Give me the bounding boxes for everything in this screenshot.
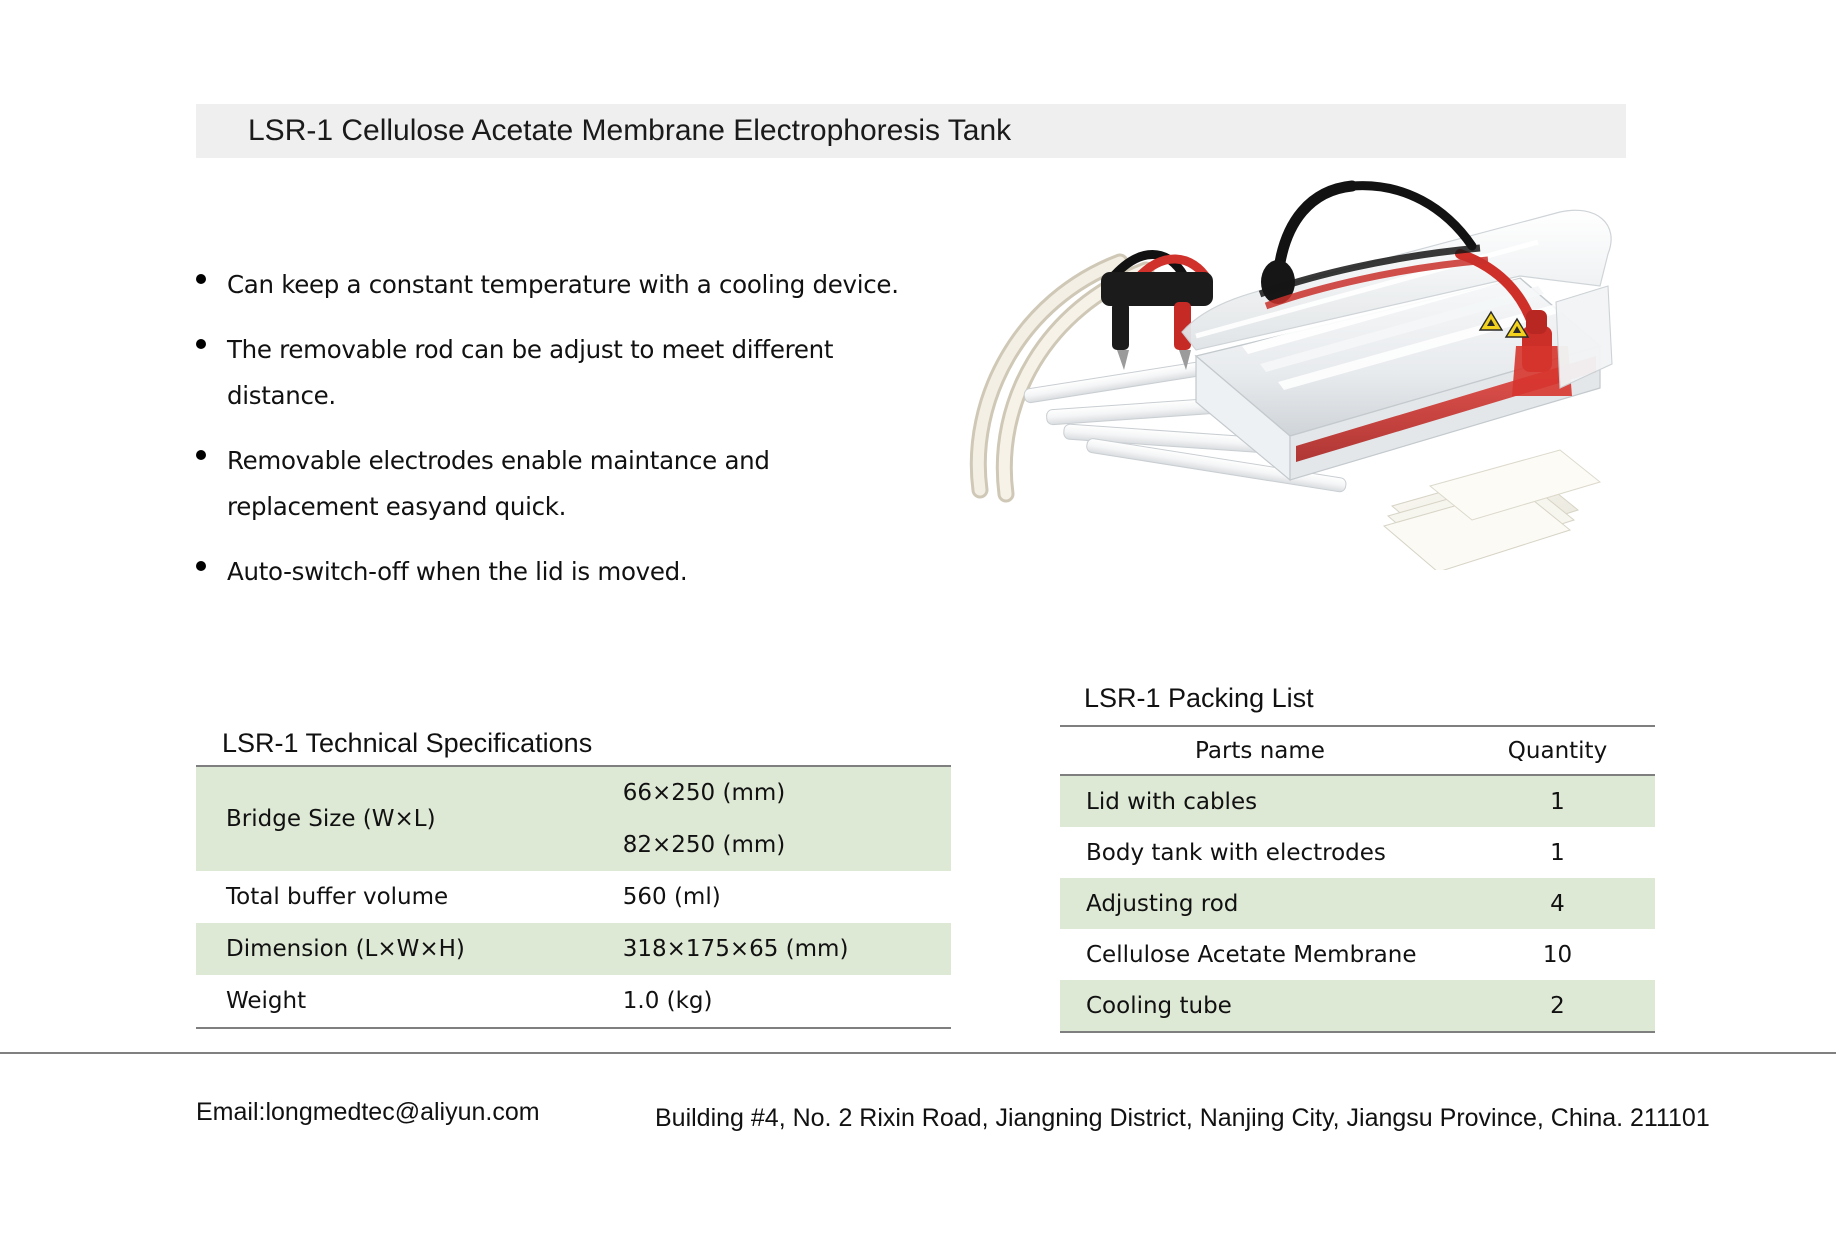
product-photo <box>960 150 1640 570</box>
footer-divider <box>0 1052 1836 1054</box>
feature-text: Removable electrodes enable maintance an… <box>227 438 827 530</box>
feature-text: Can keep a constant temperature with a c… <box>227 262 899 308</box>
feature-list: Can keep a constant temperature with a c… <box>196 262 936 614</box>
part-name: Cellulose Acetate Membrane <box>1060 929 1460 980</box>
part-quantity: 1 <box>1460 775 1655 827</box>
column-header-quantity: Quantity <box>1460 726 1655 775</box>
feature-text: Auto-switch-off when the lid is moved. <box>227 549 687 595</box>
part-quantity: 10 <box>1460 929 1655 980</box>
part-name: Adjusting rod <box>1060 878 1460 929</box>
table-row: Weight 1.0 (kg) <box>196 975 951 1028</box>
table-row: Lid with cables 1 <box>1060 775 1655 827</box>
spec-value: 66×250 (mm) <box>561 766 951 819</box>
part-quantity: 4 <box>1460 878 1655 929</box>
table-row: Bridge Size (W×L) 66×250 (mm) <box>196 766 951 819</box>
page-title: LSR-1 Cellulose Acetate Membrane Electro… <box>248 114 1011 148</box>
bullet-icon <box>196 450 206 460</box>
footer-address: Building #4, No. 2 Rixin Road, Jiangning… <box>655 1104 1710 1133</box>
spec-value: 1.0 (kg) <box>561 975 951 1028</box>
tank-body-graphic <box>1182 186 1612 480</box>
packing-list-heading: LSR-1 Packing List <box>1084 683 1314 714</box>
column-header-parts-name: Parts name <box>1060 726 1460 775</box>
bullet-icon <box>196 339 206 349</box>
part-name: Lid with cables <box>1060 775 1460 827</box>
bullet-icon <box>196 561 206 571</box>
footer-email: Email:longmedtec@aliyun.com <box>196 1098 540 1127</box>
list-item: Removable electrodes enable maintance an… <box>196 438 936 530</box>
table-row: Cellulose Acetate Membrane 10 <box>1060 929 1655 980</box>
spec-key: Total buffer volume <box>196 871 561 923</box>
part-name: Body tank with electrodes <box>1060 827 1460 878</box>
part-quantity: 1 <box>1460 827 1655 878</box>
spec-key: Weight <box>196 975 561 1028</box>
specifications-heading: LSR-1 Technical Specifications <box>222 728 592 759</box>
table-row: Cooling tube 2 <box>1060 980 1655 1032</box>
specifications-table: Bridge Size (W×L) 66×250 (mm) 82×250 (mm… <box>196 765 951 1029</box>
spec-value: 82×250 (mm) <box>561 819 951 871</box>
table-row: Total buffer volume 560 (ml) <box>196 871 951 923</box>
list-item: Auto-switch-off when the lid is moved. <box>196 549 936 595</box>
table-row: Body tank with electrodes 1 <box>1060 827 1655 878</box>
list-item: Can keep a constant temperature with a c… <box>196 262 936 308</box>
spec-key: Dimension (L×W×H) <box>196 923 561 975</box>
membrane-sheets-graphic <box>1384 450 1600 570</box>
spec-key: Bridge Size (W×L) <box>196 766 561 871</box>
table-row: Adjusting rod 4 <box>1060 878 1655 929</box>
bullet-icon <box>196 274 206 284</box>
table-row: Dimension (L×W×H) 318×175×65 (mm) <box>196 923 951 975</box>
part-quantity: 2 <box>1460 980 1655 1032</box>
list-item: The removable rod can be adjust to meet … <box>196 327 936 419</box>
spec-value: 560 (ml) <box>561 871 951 923</box>
part-name: Cooling tube <box>1060 980 1460 1032</box>
feature-text: The removable rod can be adjust to meet … <box>227 327 936 419</box>
packing-list-table: Parts name Quantity Lid with cables 1 Bo… <box>1060 725 1655 1033</box>
table-header-row: Parts name Quantity <box>1060 726 1655 775</box>
electrode-plug-graphic <box>1101 255 1213 371</box>
spec-value: 318×175×65 (mm) <box>561 923 951 975</box>
